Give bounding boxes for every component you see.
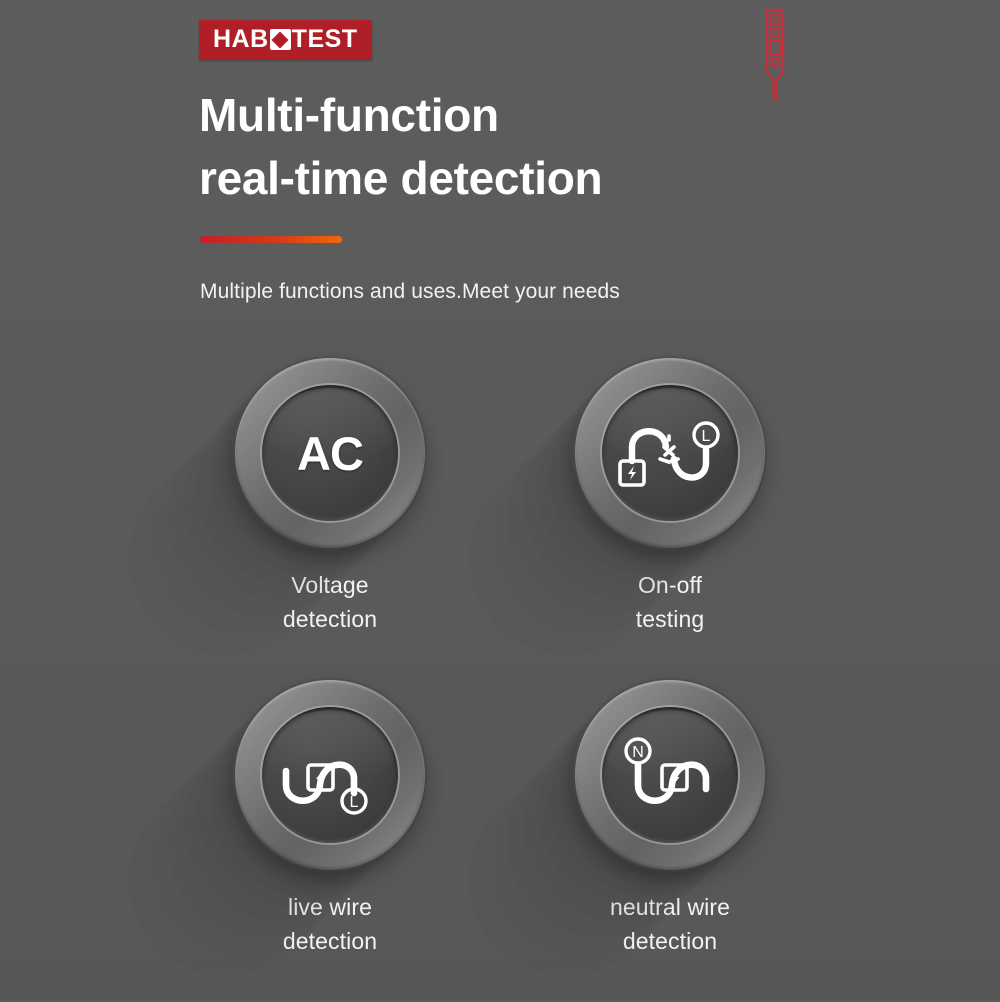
feature-label: Voltage detection [200, 568, 460, 636]
feature-label: live wire detection [200, 890, 460, 958]
brand-logo-text-after: TEST [292, 27, 358, 52]
feature-label: On-off testing [540, 568, 800, 636]
feature-button-voltage-detection[interactable]: AC [235, 358, 425, 548]
button-face: N [602, 707, 738, 843]
button-face: L [602, 385, 738, 521]
page-subtitle: Multiple functions and uses.Meet your ne… [200, 280, 620, 304]
voltage-tester-pen-icon [752, 2, 798, 102]
feature-label: neutral wire detection [540, 890, 800, 958]
circle-l-icon: L [694, 423, 718, 447]
feature-neutral-wire-detection[interactable]: N neutral wire detection [540, 680, 800, 958]
feature-grid: AC Voltage detection [0, 358, 1000, 1002]
feature-row-1: AC Voltage detection [0, 358, 1000, 680]
brand-logo-diamond-icon [270, 29, 291, 50]
broken-wire-spark-icon: L [610, 407, 730, 499]
page-headline: Multi-function real-time detection [199, 84, 602, 211]
svg-text:L: L [702, 428, 711, 445]
feature-row-2: L live wire detection [0, 680, 1000, 1002]
feature-button-neutral-wire-detection[interactable]: N [575, 680, 765, 870]
brand-logo: HAB TEST [199, 20, 372, 60]
promo-page: HAB TEST Multi-function real-time detect… [0, 0, 1000, 1000]
headline-divider [200, 236, 342, 243]
svg-text:N: N [632, 744, 644, 761]
ac-text-icon: AC [297, 430, 363, 477]
svg-text:L: L [350, 794, 359, 811]
feature-button-live-wire-detection[interactable]: L [235, 680, 425, 870]
feature-on-off-testing[interactable]: L On-off testing [540, 358, 800, 636]
brand-logo-text-before: HAB [213, 27, 269, 52]
feature-live-wire-detection[interactable]: L live wire detection [200, 680, 460, 958]
button-face: AC [262, 385, 398, 521]
neutral-wire-icon: N [610, 729, 730, 821]
lightning-box-icon [620, 461, 644, 485]
brand-logo-text: HAB TEST [213, 27, 358, 52]
feature-button-on-off-testing[interactable]: L [575, 358, 765, 548]
circle-n-icon: N [626, 739, 650, 763]
feature-voltage-detection[interactable]: AC Voltage detection [200, 358, 460, 636]
live-wire-icon: L [270, 729, 390, 821]
button-face: L [262, 707, 398, 843]
